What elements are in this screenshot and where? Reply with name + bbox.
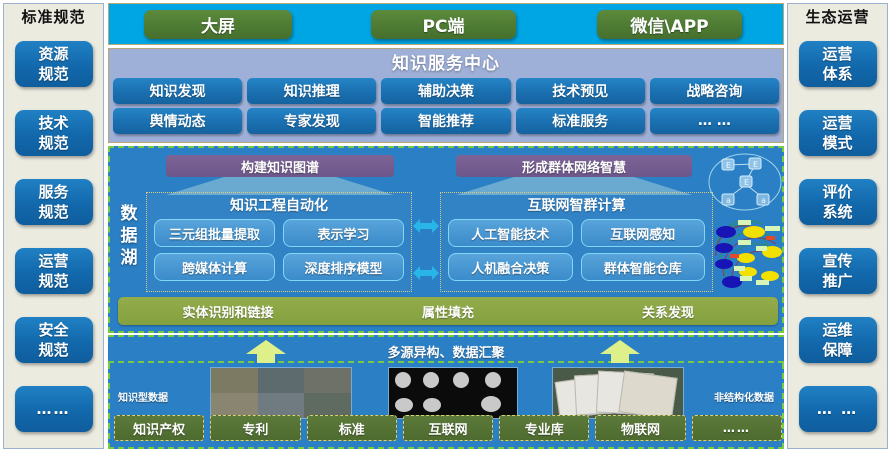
rail-item-technical-standard[interactable]: 技术 规范 [15, 110, 93, 156]
rail-item-line1: 运维 [822, 320, 852, 340]
aggregation-label: 多源异构、数据汇聚 [108, 342, 784, 361]
entity-graph-illustration-icon: E E E a a [708, 153, 782, 211]
service-center-band: 知识服务中心 知识发现 知识推理 辅助决策 技术预见 战略咨询 舆情动态 专家发… [108, 48, 784, 143]
engine-panel: 数据湖 构建知识图谱 形成群体网络智慧 知识工程自动化 三元组批量提取 表示学习 [108, 146, 784, 333]
service-center-title: 知识服务中心 [113, 51, 779, 77]
engine-right-row-1: 人工智能技术 互联网感知 [448, 219, 705, 247]
rail-item-service-standard[interactable]: 服务 规范 [15, 179, 93, 225]
rail-item-line2: 规范 [38, 202, 68, 222]
engine-box-left-title: 知识工程自动化 [147, 195, 411, 217]
rail-item-line2: 规范 [38, 64, 68, 84]
mosaic-tile [211, 368, 258, 393]
doc-sheet [618, 370, 677, 418]
rail-item-line1: 安全 [38, 320, 68, 340]
thumbnail-scene-mosaic [210, 367, 352, 419]
svg-text:a: a [761, 196, 766, 205]
rail-item-line1: 运营 [38, 251, 68, 271]
mosaic-tile [304, 368, 351, 393]
eng-chip-swarm-intelligence-warehouse[interactable]: 群体智能仓库 [581, 253, 706, 281]
rail-item-more[interactable]: … … [799, 386, 877, 432]
aggregation-band: 多源异构、数据汇聚 [108, 335, 784, 363]
engine-box-right-title: 互联网智群计算 [441, 195, 712, 217]
goal-bar-build-knowledge-graph: 构建知识图谱 [166, 155, 394, 177]
engine-left-grid: 三元组批量提取 表示学习 跨媒体计算 深度排序模型 [147, 217, 411, 287]
sources-band: 知识型数据 非结构化数据 [108, 363, 784, 449]
up-arrow-right-icon [600, 340, 640, 364]
eng-chip-ai-technology[interactable]: 人工智能技术 [448, 219, 573, 247]
eng-chip-triple-extraction[interactable]: 三元组批量提取 [154, 219, 275, 247]
scan-dot [423, 372, 439, 388]
service-chip-knowledge-discovery[interactable]: 知识发现 [113, 78, 242, 104]
rail-item-line1: …… [37, 399, 71, 419]
engine-box-knowledge-automation: 知识工程自动化 三元组批量提取 表示学习 跨媒体计算 深度排序模型 [146, 192, 412, 292]
rail-item-line2: 规范 [38, 133, 68, 153]
left-rail-items: 资源 规范 技术 规范 服务 规范 运营 规范 安全 规范 …… [4, 30, 103, 449]
rail-item-security-standard[interactable]: 安全 规范 [15, 317, 93, 363]
rail-item-maintenance[interactable]: 运维 保障 [799, 317, 877, 363]
brain-scan-panel [389, 368, 517, 418]
engine-left-row-1: 三元组批量提取 表示学习 [154, 219, 404, 247]
rail-item-line1: 技术 [38, 113, 68, 133]
rail-item-evaluation-system[interactable]: 评价 系统 [799, 179, 877, 225]
rail-item-line1: 运营 [822, 113, 852, 133]
rail-item-line2: 推广 [822, 271, 852, 291]
eng-chip-cross-media-computing[interactable]: 跨媒体计算 [154, 253, 275, 281]
rail-item-operation-standard[interactable]: 运营 规范 [15, 248, 93, 294]
rail-item-line2: 系统 [822, 202, 852, 222]
task-entity-recognition-linking: 实体识别和链接 [118, 302, 338, 321]
source-chip-internet[interactable]: 互联网 [403, 415, 493, 441]
rail-item-line1: 服务 [38, 182, 68, 202]
eng-chip-representation-learning[interactable]: 表示学习 [283, 219, 404, 247]
tasks-bar: 实体识别和链接 属性填充 关系发现 [118, 297, 778, 325]
double-arrow-upper-icon [413, 218, 439, 234]
engine-right-grid: 人工智能技术 互联网感知 人机融合决策 群体智能仓库 [441, 217, 712, 287]
source-chip-patent[interactable]: 专利 [210, 415, 300, 441]
scan-dot [395, 372, 411, 388]
documents-stack [553, 368, 683, 418]
rail-item-line2: 规范 [38, 340, 68, 360]
rail-item-line1: 宣传 [822, 251, 852, 271]
service-chip-smart-recommend[interactable]: 智能推荐 [381, 108, 510, 134]
rail-item-operation-model[interactable]: 运营 模式 [799, 110, 877, 156]
right-rail-title: 生态运营 [805, 9, 869, 26]
service-chip-strategy-consulting[interactable]: 战略咨询 [650, 78, 779, 104]
rail-item-line1: 资源 [38, 44, 68, 64]
thumbnail-brain-scans [388, 367, 518, 419]
scan-dot [395, 398, 413, 412]
service-chip-standard-service[interactable]: 标准服务 [516, 108, 645, 134]
network-graph-illustration-icon [710, 210, 784, 290]
engine-box-internet-swarm-computing: 互联网智群计算 人工智能技术 互联网感知 人机融合决策 群体智能仓库 [440, 192, 713, 292]
data-lake-label: 数据湖 [116, 203, 142, 269]
service-chip-expert-discovery[interactable]: 专家发现 [247, 108, 376, 134]
rail-item-line2: 规范 [38, 271, 68, 291]
eng-chip-human-machine-decision[interactable]: 人机融合决策 [448, 253, 573, 281]
mosaic-tile [258, 368, 305, 393]
source-chip-professional-db[interactable]: 专业库 [499, 415, 589, 441]
channel-button-pc[interactable]: PC端 [371, 10, 516, 39]
svg-text:E: E [744, 178, 749, 187]
source-chip-standard[interactable]: 标准 [307, 415, 397, 441]
eng-chip-deep-ranking-model[interactable]: 深度排序模型 [283, 253, 404, 281]
service-row-1: 知识发现 知识推理 辅助决策 技术预见 战略咨询 [113, 78, 779, 104]
service-row-2: 舆情动态 专家发现 智能推荐 标准服务 … … [113, 108, 779, 134]
double-arrow-lower-icon [413, 265, 439, 281]
rail-item-resource-standard[interactable]: 资源 规范 [15, 41, 93, 87]
service-chip-knowledge-reasoning[interactable]: 知识推理 [247, 78, 376, 104]
scan-dot [481, 396, 501, 412]
svg-text:a: a [726, 196, 731, 205]
rail-item-line1: 运营 [822, 44, 852, 64]
right-rail-items: 运营 体系 运营 模式 评价 系统 宣传 推广 运维 保障 … … [788, 30, 887, 449]
thumbnail-documents [552, 367, 684, 419]
rail-item-line2: 模式 [822, 133, 852, 153]
channels-band: 大屏 PC端 微信\APP [108, 3, 784, 45]
rail-item-line2: 保障 [822, 340, 852, 360]
right-rail-ecosystem: 生态运营 运营 体系 运营 模式 评价 系统 宣传 推广 运维 保障 [787, 3, 888, 449]
scan-dot [485, 372, 501, 388]
eng-chip-internet-perception[interactable]: 互联网感知 [581, 219, 706, 247]
left-rail-standards: 标准规范 资源 规范 技术 规范 服务 规范 运营 规范 安全 规范 [3, 3, 104, 449]
scene-mosaic-grid [211, 368, 351, 418]
channel-button-bigscreen[interactable]: 大屏 [144, 10, 292, 39]
service-chip-more[interactable]: … … [650, 108, 779, 134]
rail-item-promotion[interactable]: 宣传 推广 [799, 248, 877, 294]
scan-dot [453, 372, 469, 388]
architecture-diagram: 标准规范 资源 规范 技术 规范 服务 规范 运营 规范 安全 规范 [0, 0, 891, 452]
scan-dot [423, 398, 441, 412]
service-chip-decision-support[interactable]: 辅助决策 [381, 78, 510, 104]
svg-text:E: E [753, 160, 758, 169]
task-relation-discovery: 关系发现 [558, 302, 778, 321]
engine-left-row-2: 跨媒体计算 深度排序模型 [154, 253, 404, 281]
rail-item-more[interactable]: …… [15, 386, 93, 432]
svg-text:E: E [726, 161, 731, 170]
task-attribute-filling: 属性填充 [338, 302, 558, 321]
center-stack: 大屏 PC端 微信\APP 知识服务中心 知识发现 知识推理 辅助决策 技术预见… [108, 3, 784, 449]
source-chip-row: 知识产权 专利 标准 互联网 专业库 物联网 …… [114, 415, 782, 441]
service-chip-tech-foresight[interactable]: 技术预见 [516, 78, 645, 104]
goal-bar-form-collective-intelligence: 形成群体网络智慧 [456, 155, 692, 177]
source-chip-more[interactable]: …… [692, 415, 782, 441]
channel-button-wechat-app[interactable]: 微信\APP [597, 10, 742, 39]
service-chip-public-opinion[interactable]: 舆情动态 [113, 108, 242, 134]
left-rail-title: 标准规范 [21, 9, 85, 26]
engine-right-row-2: 人机融合决策 群体智能仓库 [448, 253, 705, 281]
source-chip-iot[interactable]: 物联网 [595, 415, 685, 441]
rail-item-operation-system[interactable]: 运营 体系 [799, 41, 877, 87]
rail-item-line2: 体系 [822, 64, 852, 84]
sources-left-label: 知识型数据 [118, 389, 168, 404]
sources-right-label: 非结构化数据 [714, 389, 774, 404]
service-chip-grid: 知识发现 知识推理 辅助决策 技术预见 战略咨询 舆情动态 专家发现 智能推荐 … [113, 78, 779, 134]
source-chip-ip[interactable]: 知识产权 [114, 415, 204, 441]
rail-item-line1: 评价 [822, 182, 852, 202]
rail-item-line1: … … [817, 399, 858, 419]
